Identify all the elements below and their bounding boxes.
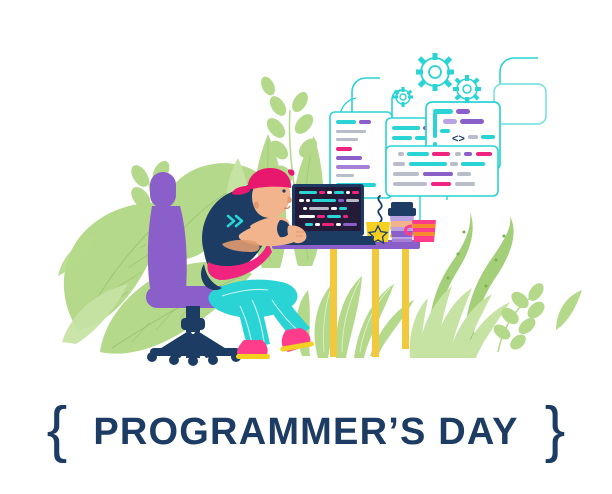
illustration-scene: <> < >: [0, 0, 612, 370]
laptop-code-line-2: [299, 199, 359, 202]
leaf-small-far-right: [556, 290, 582, 330]
open-brace: {: [47, 399, 68, 461]
character-eye: [282, 189, 285, 192]
close-brace: }: [545, 399, 566, 461]
gear-small-icon: [393, 87, 413, 107]
title-row: { PROGRAMMER’S DAY }: [47, 401, 566, 463]
title-bar: { PROGRAMMER’S DAY }: [0, 370, 612, 494]
programmers-day-illustration: <> < >: [0, 0, 612, 494]
togo-cup: [388, 202, 416, 242]
desk-leg-1: [330, 249, 337, 357]
grass-clump-right: [410, 286, 510, 358]
cup-lid: [388, 208, 416, 216]
chair-backrest: [148, 206, 187, 290]
desk-leg-3: [402, 249, 409, 349]
code-glyph-angle-pair: <>: [452, 133, 465, 145]
code-window-top-right[interactable]: [494, 84, 546, 124]
grass-under-desk: [297, 276, 414, 358]
desk-leg-2: [372, 249, 379, 357]
gear-medium-icon: [453, 75, 481, 103]
page-title: PROGRAMMER’S DAY: [93, 413, 518, 451]
gear-large-icon: [416, 53, 454, 91]
code-window-bottom[interactable]: [386, 146, 498, 196]
scene-svg: <> < >: [0, 0, 612, 370]
character-shoe-front: [236, 340, 270, 359]
laptop-code-line-3: [303, 207, 347, 210]
chair-headrest: [150, 172, 176, 208]
